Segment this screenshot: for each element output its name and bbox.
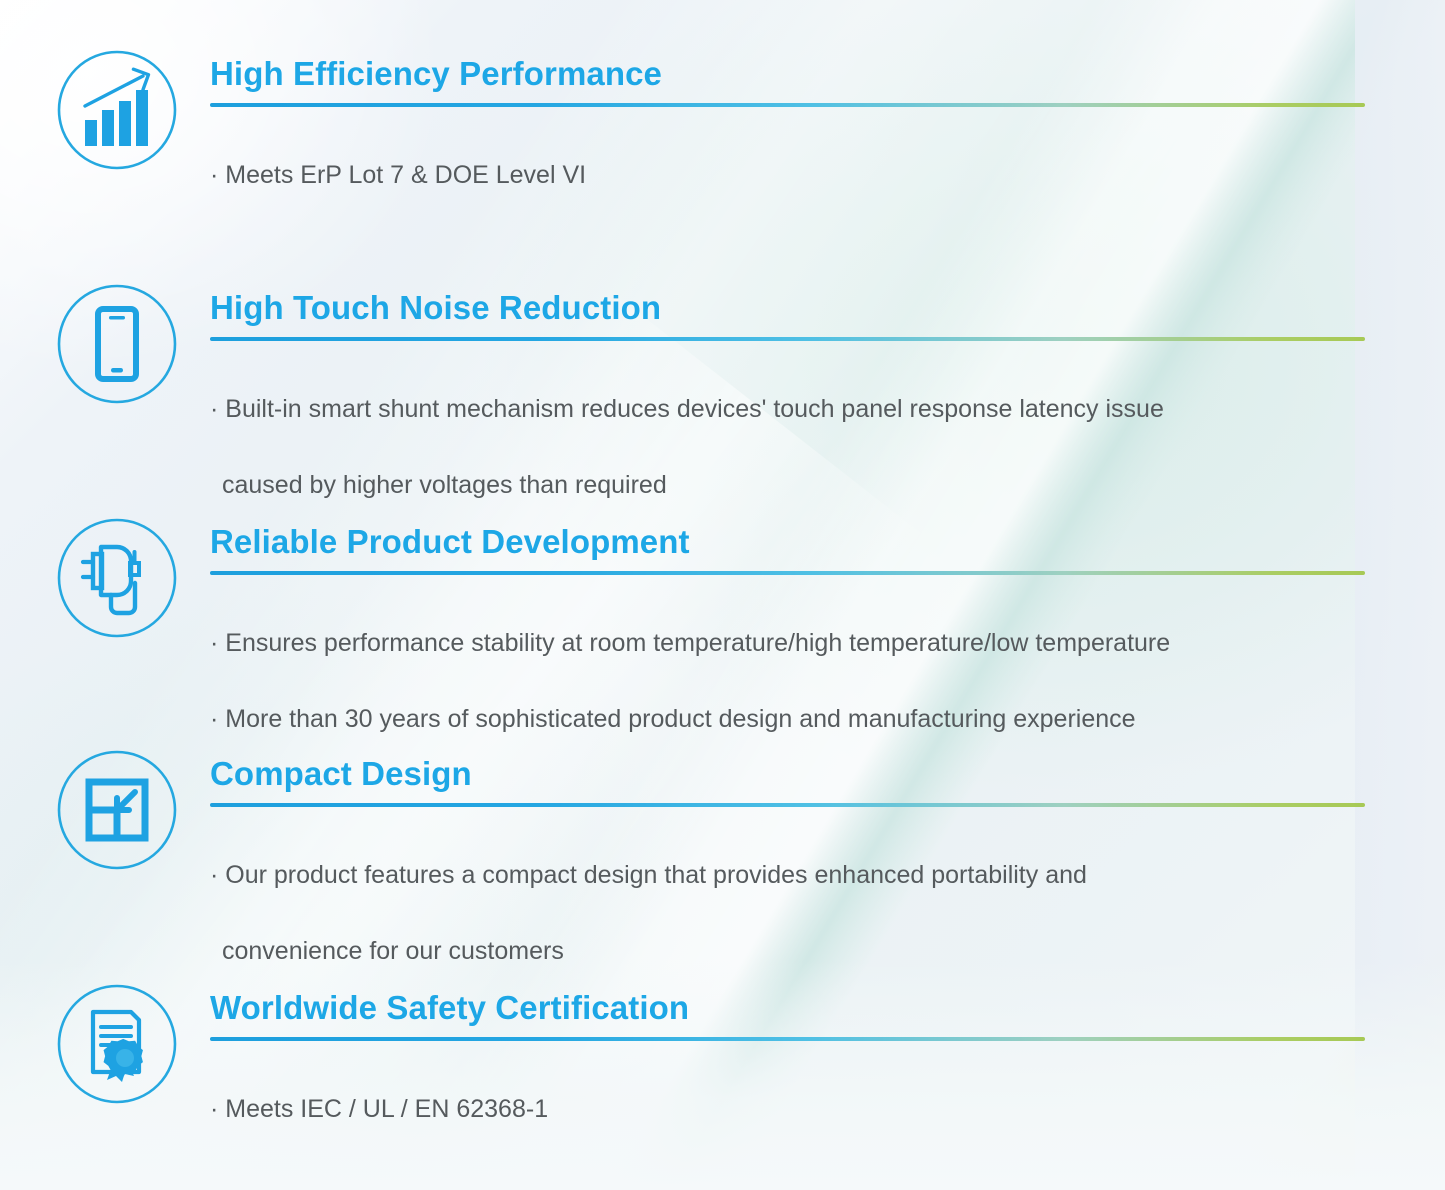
feature-content: Compact Design · Our product features a … <box>210 754 1370 1008</box>
feature-title: Compact Design <box>210 754 1370 794</box>
feature-content: Worldwide Safety Certification · Meets I… <box>210 988 1370 1166</box>
smartphone-icon <box>55 282 179 406</box>
feature-title: Reliable Product Development <box>210 522 1370 562</box>
feature-description-line: caused by higher voltages than required <box>210 466 1370 504</box>
feature-description-line: · Built-in smart shunt mechanism reduces… <box>210 390 1370 428</box>
bar-chart-growth-icon <box>55 48 179 172</box>
power-adapter-icon <box>55 516 179 640</box>
feature-highlights-page: High Efficiency Performance · Meets ErP … <box>0 0 1445 1190</box>
feature-description-line: · Meets IEC / UL / EN 62368-1 <box>210 1090 1370 1128</box>
feature-description-line: · Our product features a compact design … <box>210 856 1370 894</box>
feature-description: · Meets ErP Lot 7 & DOE Level VI <box>210 107 1370 232</box>
feature-list: High Efficiency Performance · Meets ErP … <box>0 0 1445 1190</box>
feature-title: Worldwide Safety Certification <box>210 988 1370 1028</box>
feature-description: · Built-in smart shunt mechanism reduces… <box>210 341 1370 542</box>
feature-content: High Touch Noise Reduction · Built-in sm… <box>210 288 1370 542</box>
feature-description-line: · Meets ErP Lot 7 & DOE Level VI <box>210 156 1370 194</box>
compact-resize-icon <box>55 748 179 872</box>
feature-title: High Touch Noise Reduction <box>210 288 1370 328</box>
feature-description-line: · More than 30 years of sophisticated pr… <box>210 700 1370 738</box>
feature-content: Reliable Product Development · Ensures p… <box>210 522 1370 776</box>
feature-title: High Efficiency Performance <box>210 54 1370 94</box>
feature-description-line: convenience for our customers <box>210 932 1370 970</box>
feature-content: High Efficiency Performance · Meets ErP … <box>210 54 1370 232</box>
feature-description: · Ensures performance stability at room … <box>210 575 1370 776</box>
feature-description: · Meets IEC / UL / EN 62368-1 <box>210 1041 1370 1166</box>
certificate-seal-icon <box>55 982 179 1106</box>
feature-description-line: · Ensures performance stability at room … <box>210 624 1370 662</box>
feature-description: · Our product features a compact design … <box>210 807 1370 1008</box>
